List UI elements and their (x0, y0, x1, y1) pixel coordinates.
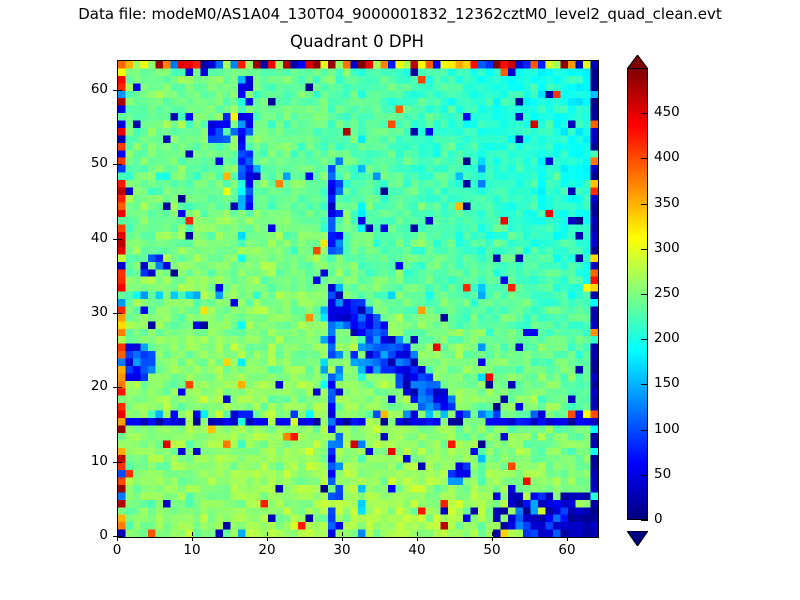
data-file-suptitle: Data file: modeM0/AS1A04_130T04_90000018… (0, 5, 800, 23)
colorbar-tick-label: 350 (654, 195, 680, 211)
colorbar-tick-mark (641, 384, 648, 385)
colorbar-tick-label: 450 (654, 104, 680, 120)
y-tick-mark-inner (118, 536, 122, 537)
colorbar[interactable]: 050100150200250300350400450 (627, 62, 707, 532)
colorbar-tick-mark (641, 520, 648, 521)
dph-heatmap-image[interactable] (118, 61, 598, 537)
colorbar-tick-label: 150 (654, 375, 680, 391)
y-tick-mark (113, 164, 117, 165)
colorbar-tick-mark (641, 475, 648, 476)
x-tick-mark-inner (342, 532, 343, 536)
x-tick-label: 60 (547, 542, 587, 558)
x-tick-mark-inner (192, 532, 193, 536)
colorbar-tick-mark (641, 158, 648, 159)
y-tick-label: 60 (68, 81, 108, 97)
colorbar-tick-label: 100 (654, 421, 680, 437)
y-tick-label: 30 (68, 304, 108, 320)
x-tick-mark (192, 537, 193, 541)
colorbar-tick-mark (641, 339, 648, 340)
colorbar-tick-label: 200 (654, 330, 680, 346)
y-tick-mark-inner (118, 90, 122, 91)
colorbar-under-arrow (627, 531, 648, 546)
y-tick-mark-inner (118, 387, 122, 388)
x-tick-label: 10 (172, 542, 212, 558)
y-tick-mark-inner (118, 239, 122, 240)
y-tick-label: 10 (68, 453, 108, 469)
y-tick-mark (113, 387, 117, 388)
y-tick-mark-inner (118, 462, 122, 463)
plot-title: Quadrant 0 DPH (117, 32, 597, 51)
colorbar-tick-mark (641, 430, 648, 431)
y-tick-mark-inner (118, 313, 122, 314)
x-tick-mark-inner (492, 532, 493, 536)
y-tick-mark (113, 536, 117, 537)
y-tick-mark-inner (118, 164, 122, 165)
y-tick-label: 50 (68, 155, 108, 171)
x-tick-mark-inner (417, 532, 418, 536)
colorbar-tick-mark (641, 204, 648, 205)
y-tick-mark (113, 313, 117, 314)
y-tick-label: 0 (68, 527, 108, 543)
colorbar-tick-mark (641, 249, 648, 250)
colorbar-tick-mark (641, 294, 648, 295)
x-tick-mark (117, 537, 118, 541)
colorbar-tick-label: 300 (654, 240, 680, 256)
x-tick-mark-inner (267, 532, 268, 536)
matplotlib-figure: Data file: modeM0/AS1A04_130T04_90000018… (0, 0, 800, 600)
colorbar-tick-mark (641, 113, 648, 114)
x-tick-mark (492, 537, 493, 541)
colorbar-tick-label: 400 (654, 149, 680, 165)
colorbar-tick-label: 50 (654, 466, 671, 482)
x-tick-mark-inner (567, 532, 568, 536)
colorbar-tick-label: 250 (654, 285, 680, 301)
x-tick-label: 0 (97, 542, 137, 558)
x-tick-label: 50 (472, 542, 512, 558)
x-tick-label: 20 (247, 542, 287, 558)
colorbar-tick-label: 0 (654, 511, 663, 527)
heatmap-axes[interactable] (117, 60, 599, 538)
y-tick-label: 40 (68, 230, 108, 246)
x-tick-mark (342, 537, 343, 541)
colorbar-over-arrow (627, 55, 648, 69)
x-tick-label: 30 (322, 542, 362, 558)
y-tick-mark (113, 90, 117, 91)
x-tick-mark (267, 537, 268, 541)
y-tick-label: 20 (68, 378, 108, 394)
y-tick-mark (113, 462, 117, 463)
y-tick-mark (113, 239, 117, 240)
x-tick-label: 40 (397, 542, 437, 558)
x-tick-mark (417, 537, 418, 541)
x-tick-mark (567, 537, 568, 541)
